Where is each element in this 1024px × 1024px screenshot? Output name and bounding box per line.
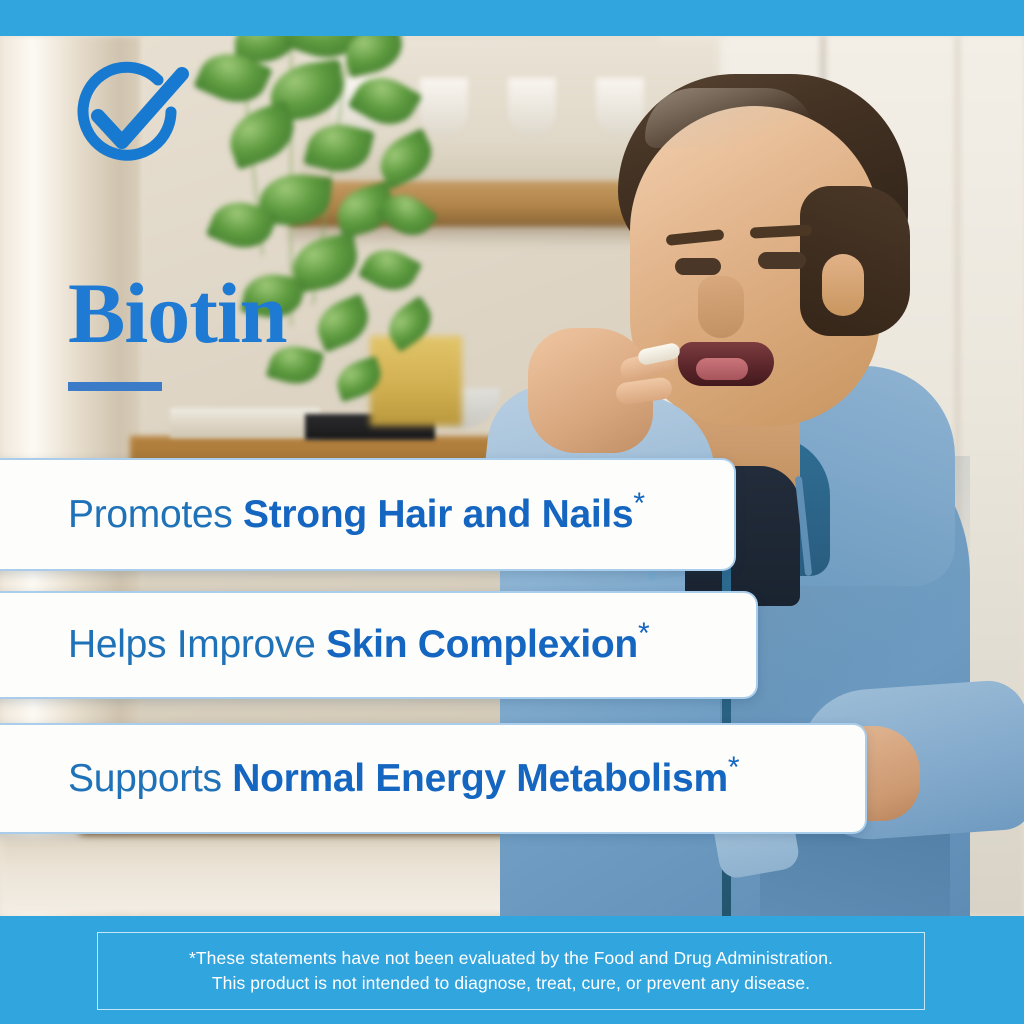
benefit-lead-1: Promotes	[68, 493, 243, 536]
benefit-bar-3: Supports Normal Energy Metabolism*	[0, 723, 867, 834]
benefit-emphasis-2: Skin Complexion	[326, 623, 638, 666]
benefit-lead-3: Supports	[68, 757, 232, 800]
benefit-text-2: Helps Improve Skin Complexion*	[0, 623, 649, 667]
title-underline-rule	[68, 382, 162, 391]
benefit-text-3: Supports Normal Energy Metabolism*	[0, 757, 739, 801]
circle-check-icon	[70, 58, 190, 173]
title-block: Biotin	[68, 270, 287, 391]
benefit-lead-2: Helps Improve	[68, 623, 326, 666]
eye	[758, 252, 806, 269]
asterisk-2: *	[638, 617, 649, 650]
asterisk-3: *	[728, 751, 739, 784]
brand-logo	[70, 58, 190, 173]
tongue	[696, 358, 748, 380]
disclaimer-line-2: This product is not intended to diagnose…	[212, 971, 810, 996]
benefit-bar-1: Promotes Strong Hair and Nails*	[0, 458, 736, 571]
hair-grey-highlight	[645, 88, 815, 148]
benefit-emphasis-1: Strong Hair and Nails	[243, 493, 633, 536]
benefit-emphasis-3: Normal Energy Metabolism	[232, 757, 728, 800]
asterisk-1: *	[633, 487, 644, 520]
benefit-text-1: Promotes Strong Hair and Nails*	[0, 493, 645, 537]
page-title: Biotin	[68, 270, 287, 356]
promo-canvas: Biotin Promotes Strong Hair and Nails* H…	[0, 0, 1024, 1024]
eye	[675, 258, 721, 275]
disclaimer-box: *These statements have not been evaluate…	[97, 932, 925, 1010]
disclaimer-line-1: *These statements have not been evaluate…	[189, 946, 833, 971]
ear	[822, 254, 864, 316]
benefit-bar-2: Helps Improve Skin Complexion*	[0, 591, 758, 699]
top-brand-band	[0, 0, 1024, 36]
plant-pot	[370, 336, 462, 426]
